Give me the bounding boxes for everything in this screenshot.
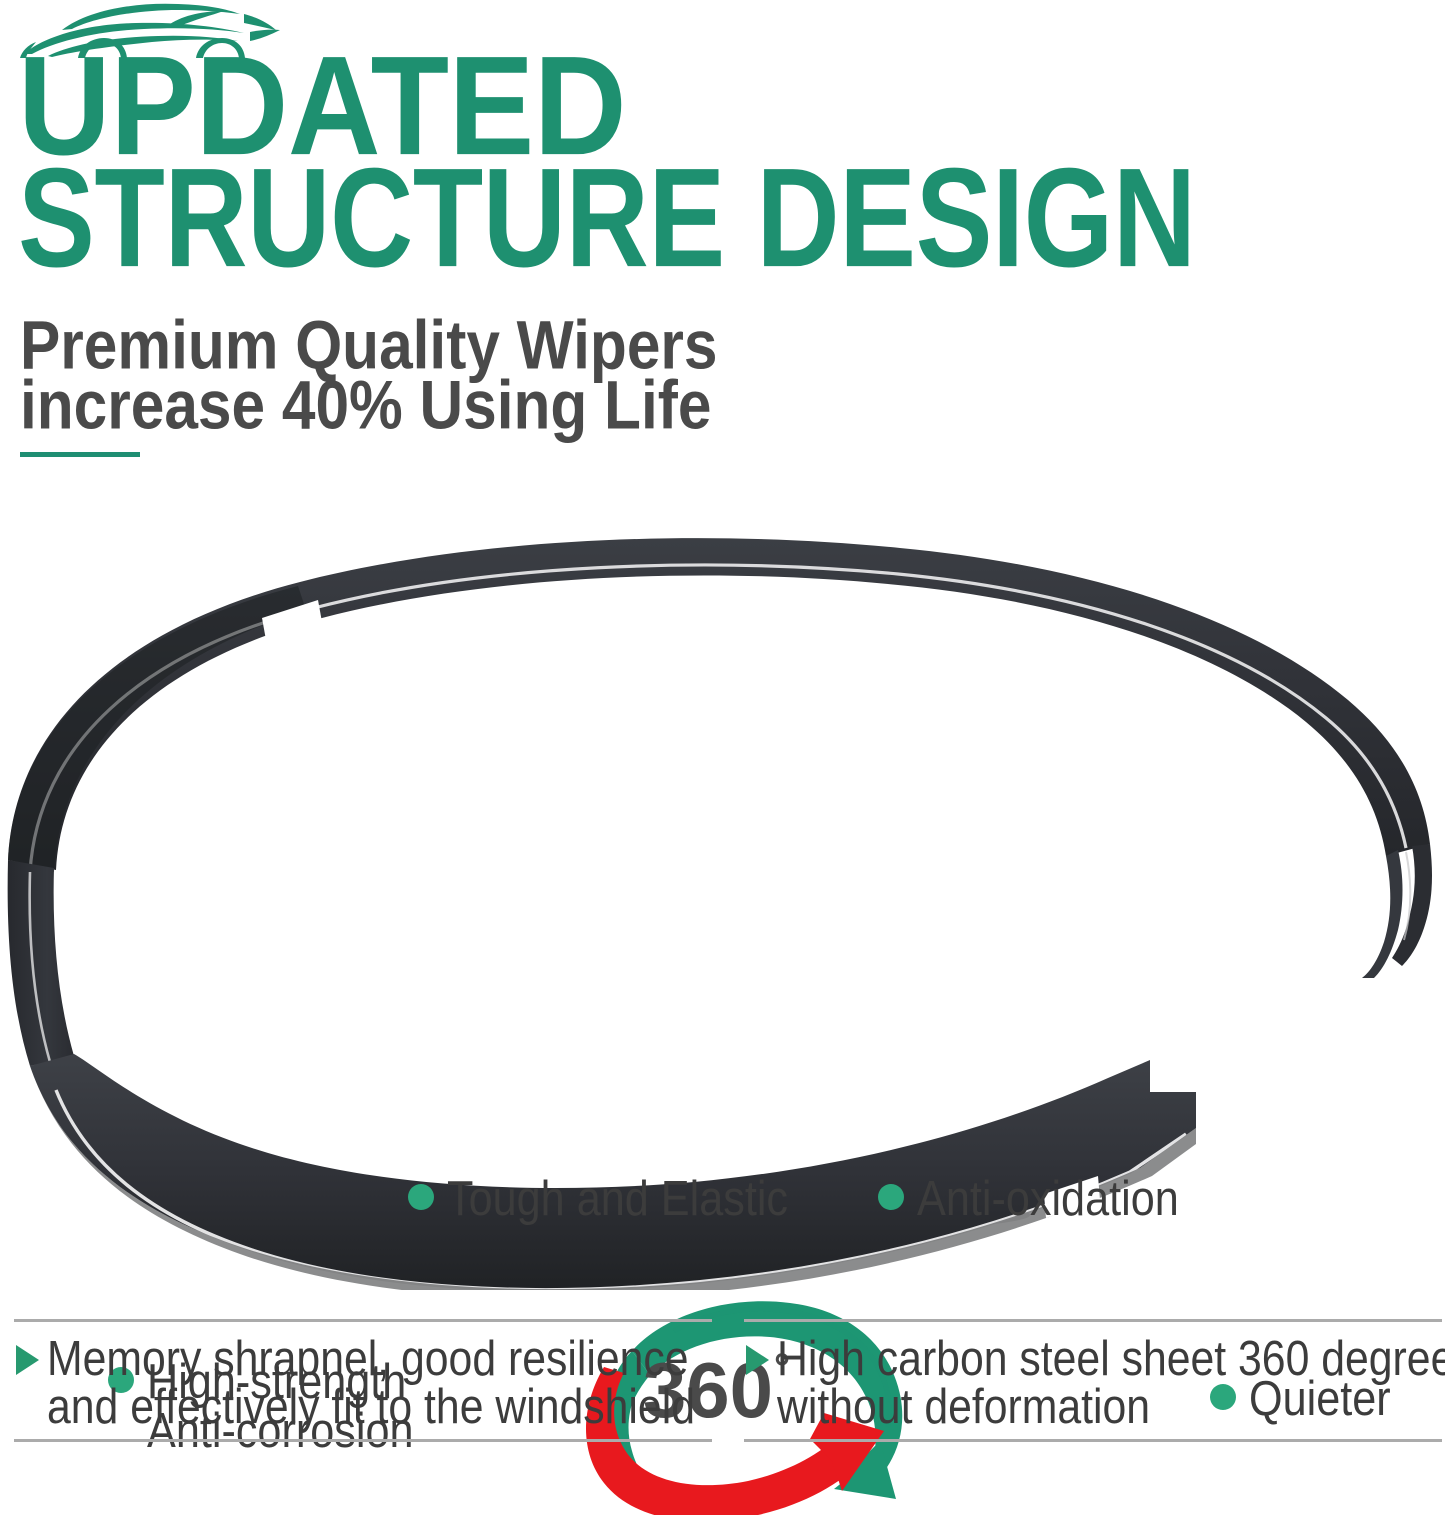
divider-line [744, 1439, 1442, 1442]
subtitle-line-2: increase 40% Using Life [20, 371, 711, 439]
product-image-section: Tough and Elastic Anti-oxidation High-st… [0, 500, 1445, 1290]
headline-line-2: STRUCTURE DESIGN [18, 153, 1196, 283]
triangle-bullet-icon [16, 1345, 39, 1375]
bottom-captions-section: Memory shrapnel, good resilience and eff… [0, 1300, 1445, 1448]
divider-line [14, 1319, 712, 1322]
header-section: UPDATED STRUCTURE DESIGN Premium Quality… [0, 0, 1445, 500]
caption-memory-shrapnel: Memory shrapnel, good resilience and eff… [14, 1300, 712, 1448]
caption-high-carbon-steel: High carbon steel sheet 360 degrees with… [744, 1300, 1442, 1448]
feature-label: Tough and Elastic [447, 1172, 788, 1225]
triangle-bullet-icon [746, 1345, 769, 1375]
bullet-dot-icon [408, 1184, 434, 1210]
caption-line-2: without deformation [777, 1380, 1445, 1433]
divider-line [14, 1439, 712, 1442]
accent-underline [20, 452, 140, 457]
divider-line [744, 1319, 1442, 1322]
bullet-dot-icon [878, 1184, 904, 1210]
feature-tough-and-elastic: Tough and Elastic [408, 1172, 802, 1221]
caption-line-2: and effectively fit to the windshield [47, 1380, 695, 1433]
feature-label: Anti-oxidation [917, 1172, 1179, 1225]
feature-anti-oxidation: Anti-oxidation [878, 1172, 1190, 1221]
